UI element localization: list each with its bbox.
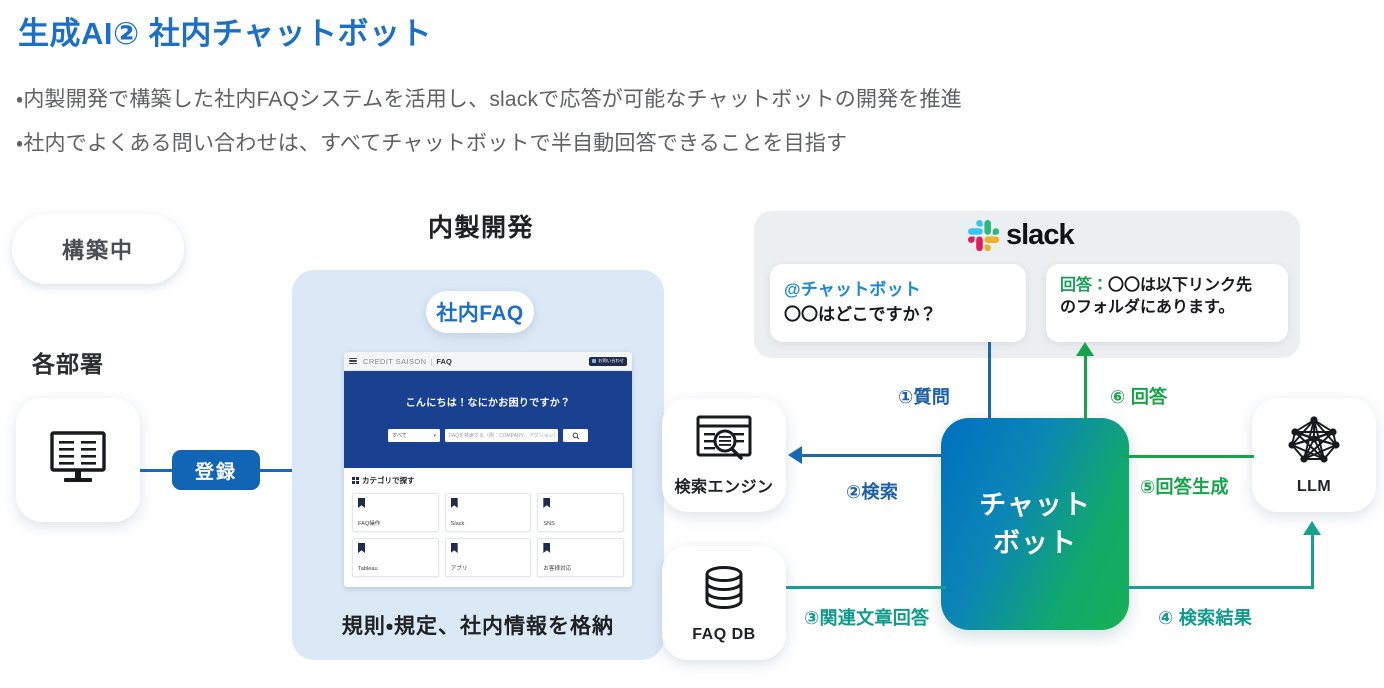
badge-internal-faq: 社内FAQ	[426, 291, 534, 333]
mock-brand: CREDIT SAISON	[363, 357, 426, 366]
slack-mark-icon	[968, 220, 999, 251]
tile-department	[16, 398, 140, 522]
hamburger-icon[interactable]	[349, 358, 357, 365]
mock-section-label: FAQ	[436, 357, 451, 366]
connector-flow-6	[1084, 355, 1087, 421]
connector-flow-1	[988, 342, 991, 420]
flow-label-6: ⑥ 回答	[1110, 383, 1167, 409]
tile-label-llm: LLM	[1297, 478, 1331, 496]
mock-category-select[interactable]: すべて ▾	[388, 429, 440, 442]
mock-select-value: すべて	[392, 432, 407, 439]
page-title: 生成AI② 社内チャットボット	[18, 8, 432, 53]
slack-answer-line-1: 回答：〇〇は以下リンク先	[1060, 275, 1274, 297]
mock-category-title: カテゴリで探す	[362, 475, 415, 486]
register-button[interactable]: 登録	[172, 450, 260, 490]
label-inhouse-dev: 内製開発	[428, 208, 534, 244]
connector-flow-4-vertical	[1311, 534, 1314, 588]
arrow-left-search-icon	[788, 446, 802, 464]
slack-mention: @チャットボット	[784, 275, 1012, 300]
tile-label-faq-db: FAQ DB	[692, 626, 755, 644]
slack-answer-bubble: 回答：〇〇は以下リンク先 のフォルダにあります。	[1046, 264, 1288, 342]
neural-network-icon	[1283, 415, 1345, 472]
mock-card-label: FAQ操作	[358, 519, 433, 527]
slack-answer-prefix: 回答：	[1060, 277, 1108, 294]
chevron-down-icon: ▾	[433, 433, 436, 439]
tile-label-search-engine: 検索エンジン	[674, 473, 773, 497]
monitor-icon	[47, 429, 109, 492]
connector-register-left	[140, 469, 174, 472]
mock-search-button[interactable]	[563, 429, 588, 442]
chatbot-line-2: ボット	[993, 524, 1077, 562]
mock-search-row: すべて ▾ FAQを検索する（例：COMPANY、アクション）	[388, 429, 588, 442]
slide-root: 生成AI② 社内チャットボット ・内製開発で構築した社内FAQシステムを活用し、…	[0, 0, 1384, 688]
bookmark-icon	[543, 498, 550, 508]
mock-hero: こんにちは！なにかお困りですか？ すべて ▾ FAQを検索する（例：COMPAN…	[344, 371, 632, 468]
connector-flow-2	[800, 454, 945, 457]
database-icon	[698, 563, 750, 620]
magnifier-icon	[572, 432, 580, 440]
list-item[interactable]: FAQ操作	[352, 493, 439, 532]
bookmark-icon	[358, 543, 365, 553]
tile-llm: LLM	[1252, 398, 1376, 512]
slack-question-text: 〇〇はどこですか？	[784, 304, 1012, 327]
mock-card-label: アプリ	[451, 564, 526, 572]
bullet-line-1: ・内製開発で構築した社内FAQシステムを活用し、slackで応答が可能なチャット…	[16, 83, 962, 113]
flow-label-3: ③関連文章回答	[804, 604, 929, 630]
faq-store-caption: 規則・規定、社内情報を格納	[292, 610, 664, 640]
tile-search-engine: 検索エンジン	[662, 398, 786, 512]
connector-flow-3	[786, 586, 946, 589]
search-engine-icon	[695, 414, 753, 467]
slack-wordmark: slack	[1006, 219, 1074, 252]
status-badge-building: 構築中	[12, 214, 184, 284]
mock-contact-button[interactable]: お問い合わせ	[589, 357, 627, 366]
slack-answer-line-2: のフォルダにあります。	[1060, 297, 1274, 319]
slack-logo: slack	[968, 219, 1074, 252]
slack-question-bubble: @チャットボット 〇〇はどこですか？	[770, 264, 1026, 342]
mock-category-grid: FAQ操作 Slack SNS Tableau アプリ	[352, 493, 624, 577]
list-item[interactable]: アプリ	[445, 538, 532, 577]
mock-separator: |	[430, 357, 432, 366]
chatbot-block: チャット ボット	[941, 418, 1129, 630]
mock-search-input[interactable]: FAQを検索する（例：COMPANY、アクション）	[445, 429, 558, 442]
mock-card-label: Slack	[451, 521, 526, 527]
mock-category-heading: カテゴリで探す	[352, 475, 624, 486]
list-item[interactable]: Slack	[445, 493, 532, 532]
mail-icon	[592, 359, 597, 364]
slack-answer-rest: 〇〇は以下リンク先	[1108, 277, 1252, 294]
arrow-up-llm-icon	[1303, 521, 1321, 535]
flow-label-1: ①質問	[898, 383, 950, 409]
mock-hero-title: こんにちは！なにかお困りですか？	[406, 394, 571, 409]
flow-label-2: ②検索	[846, 478, 898, 504]
list-item[interactable]: お客様対応	[537, 538, 624, 577]
bookmark-icon	[451, 498, 458, 508]
chatbot-line-1: チャット	[979, 486, 1091, 524]
mock-card-label: Tableau	[358, 566, 433, 572]
list-item[interactable]: SNS	[537, 493, 624, 532]
mock-card-label: お客様対応	[543, 564, 618, 572]
faq-site-mockup: CREDIT SAISON | FAQ お問い合わせ こんにちは！なにかお困りで…	[344, 352, 632, 587]
bookmark-icon	[543, 543, 550, 553]
connector-flow-5	[1124, 455, 1254, 458]
flow-label-4: ④ 検索結果	[1158, 604, 1252, 630]
mock-header: CREDIT SAISON | FAQ お問い合わせ	[344, 352, 632, 371]
bookmark-icon	[451, 543, 458, 553]
tile-faq-db: FAQ DB	[662, 546, 786, 660]
flow-label-5: ⑤回答生成	[1140, 473, 1229, 499]
mock-contact-label: お問い合わせ	[598, 358, 624, 364]
bookmark-icon	[358, 498, 365, 508]
list-item[interactable]: Tableau	[352, 538, 439, 577]
mock-card-label: SNS	[543, 521, 618, 527]
label-departments: 各部署	[32, 345, 104, 379]
mock-body: カテゴリで探す FAQ操作 Slack SNS Tableau	[344, 468, 632, 587]
arrow-up-answer-icon	[1076, 342, 1094, 356]
bullet-line-2: ・社内でよくある問い合わせは、すべてチャットボットで半自動回答できることを目指す	[16, 127, 847, 157]
connector-flow-4-horizontal	[1124, 586, 1314, 589]
grid-icon	[352, 477, 359, 484]
